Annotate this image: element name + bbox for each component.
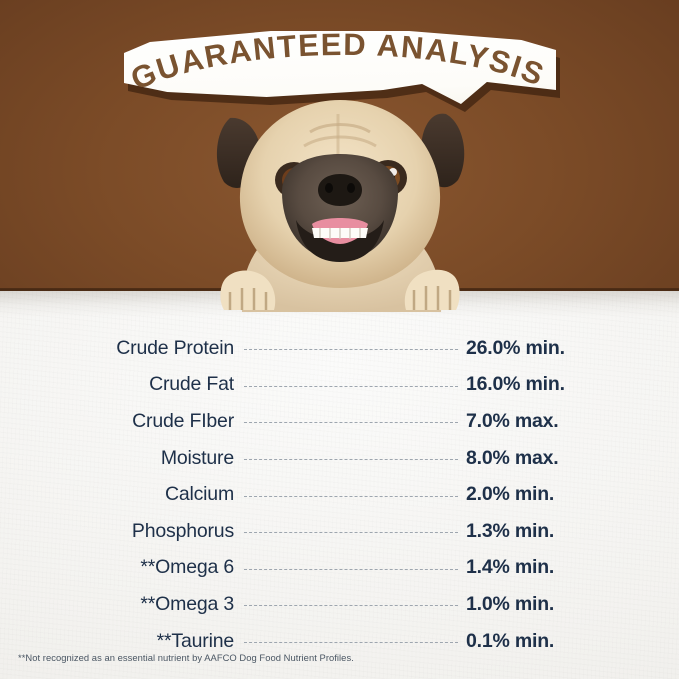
nutrient-label: Calcium	[0, 483, 234, 506]
table-row: **Omega 3 1.0% min.	[0, 586, 679, 623]
table-row: Calcium 2.0% min.	[0, 476, 679, 513]
nutrient-value: 1.0% min.	[466, 593, 679, 616]
nutrient-label: Phosphorus	[0, 520, 234, 543]
leader-dots	[244, 458, 458, 460]
guaranteed-analysis-panel: GUARANTEED ANALYSIS	[0, 0, 679, 679]
leader-dots	[244, 348, 458, 350]
guaranteed-analysis-table: Crude Protein 26.0% min. Crude Fat 16.0%…	[0, 330, 679, 659]
pug-dog-image	[198, 96, 483, 312]
nutrient-value: 2.0% min.	[466, 483, 679, 506]
nutrient-label: Crude Protein	[0, 337, 234, 360]
table-row: Crude FIber 7.0% max.	[0, 403, 679, 440]
leader-dots	[244, 568, 458, 570]
leader-dots	[244, 495, 458, 497]
nutrient-value: 1.3% min.	[466, 520, 679, 543]
leader-dots	[244, 531, 458, 533]
nutrient-value: 26.0% min.	[466, 337, 679, 360]
table-row: Crude Protein 26.0% min.	[0, 330, 679, 367]
table-row: **Omega 6 1.4% min.	[0, 550, 679, 587]
leader-dots	[244, 385, 458, 387]
nutrient-value: 16.0% min.	[466, 373, 679, 396]
nutrient-label: Moisture	[0, 447, 234, 470]
nutrient-label: **Omega 3	[0, 593, 234, 616]
table-row: Crude Fat 16.0% min.	[0, 367, 679, 404]
nutrient-value: 0.1% min.	[466, 630, 679, 653]
footnote-text: **Not recognized as an essential nutrien…	[18, 652, 354, 663]
nutrient-label: **Taurine	[0, 630, 234, 653]
table-row: Phosphorus 1.3% min.	[0, 513, 679, 550]
nutrient-label: Crude FIber	[0, 410, 234, 433]
nutrient-label: **Omega 6	[0, 556, 234, 579]
nutrient-value: 1.4% min.	[466, 556, 679, 579]
nutrient-value: 8.0% max.	[466, 447, 679, 470]
leader-dots	[244, 421, 458, 423]
banner-title-text: GUARANTEED ANALYSIS	[126, 27, 550, 97]
table-row: Moisture 8.0% max.	[0, 440, 679, 477]
leader-dots	[244, 604, 458, 606]
nutrient-value: 7.0% max.	[466, 410, 679, 433]
leader-dots	[244, 641, 458, 643]
nutrient-label: Crude Fat	[0, 373, 234, 396]
